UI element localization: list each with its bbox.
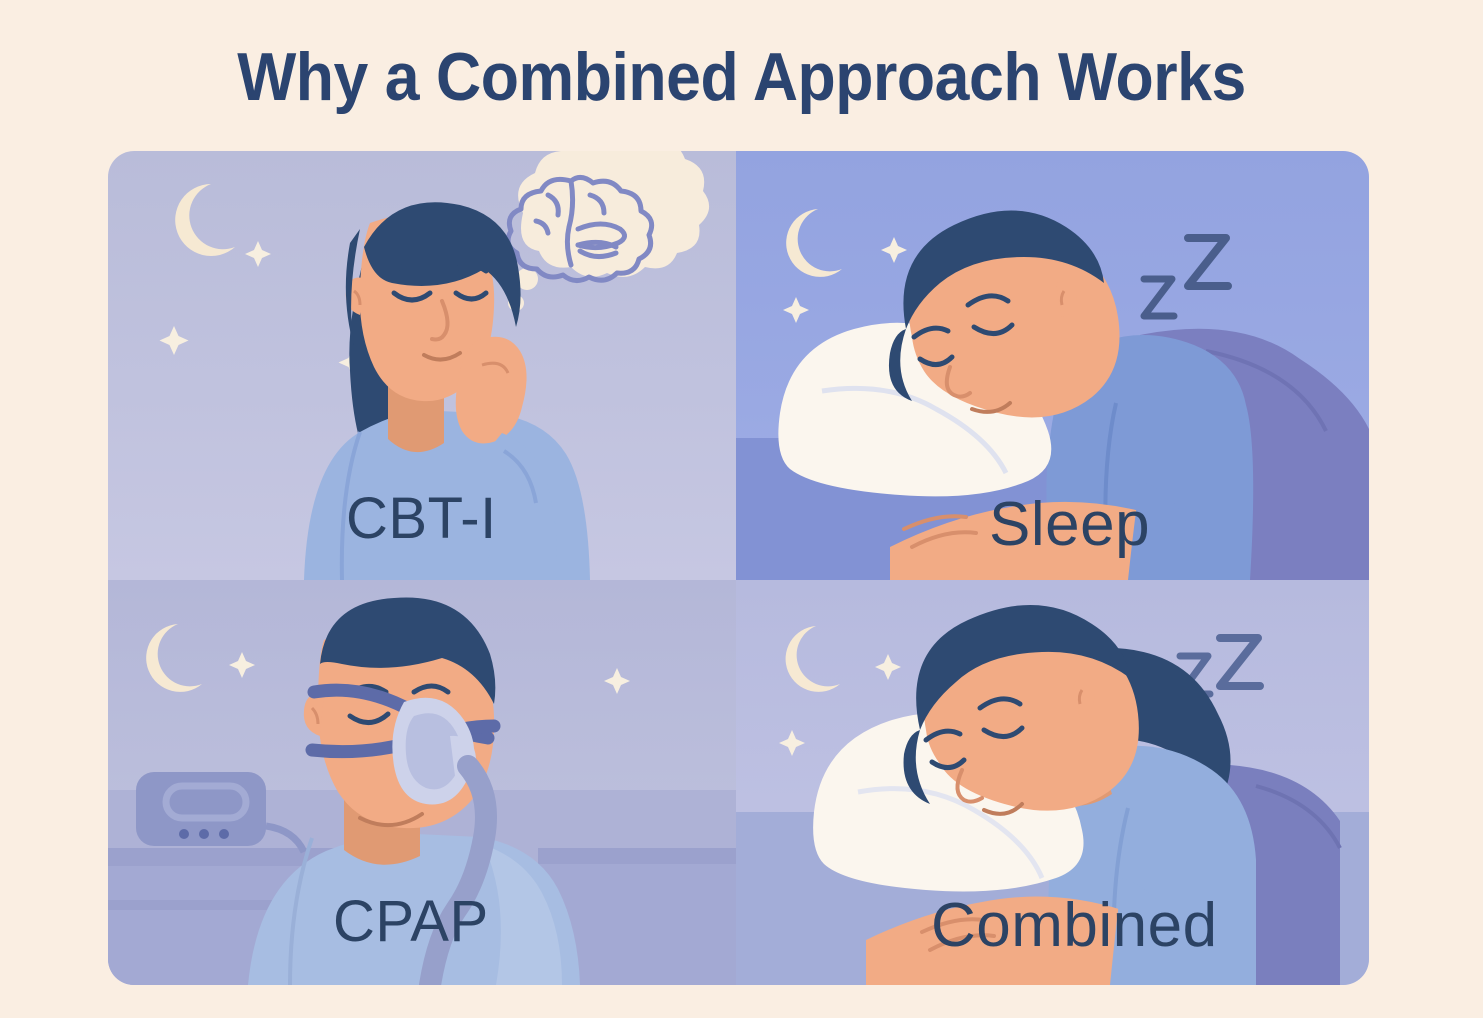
sparkle-star-icon xyxy=(783,237,907,323)
panel-sleep[interactable]: Sleep xyxy=(736,151,1369,580)
panel-combined[interactable]: Combined xyxy=(736,580,1369,985)
panel-cpap[interactable]: CPAP xyxy=(108,580,736,985)
panel-cbti[interactable]: CBT-I xyxy=(108,151,736,580)
panel-grid: CBT-I xyxy=(108,151,1369,985)
sparkle-star-icon xyxy=(160,241,368,377)
page-title: Why a Combined Approach Works xyxy=(59,38,1423,116)
panel-label-cpap: CPAP xyxy=(333,888,489,955)
thought-bubble-icon xyxy=(518,151,709,277)
panel-label-sleep: Sleep xyxy=(989,489,1150,560)
crescent-moon-icon xyxy=(786,626,840,692)
crescent-moon-icon xyxy=(146,624,202,692)
sleep-z-icon xyxy=(1144,238,1228,316)
panel-label-cbti: CBT-I xyxy=(346,485,497,552)
panel-label-combined: Combined xyxy=(931,890,1218,961)
crescent-moon-icon xyxy=(175,184,235,256)
crescent-moon-icon xyxy=(786,209,842,277)
